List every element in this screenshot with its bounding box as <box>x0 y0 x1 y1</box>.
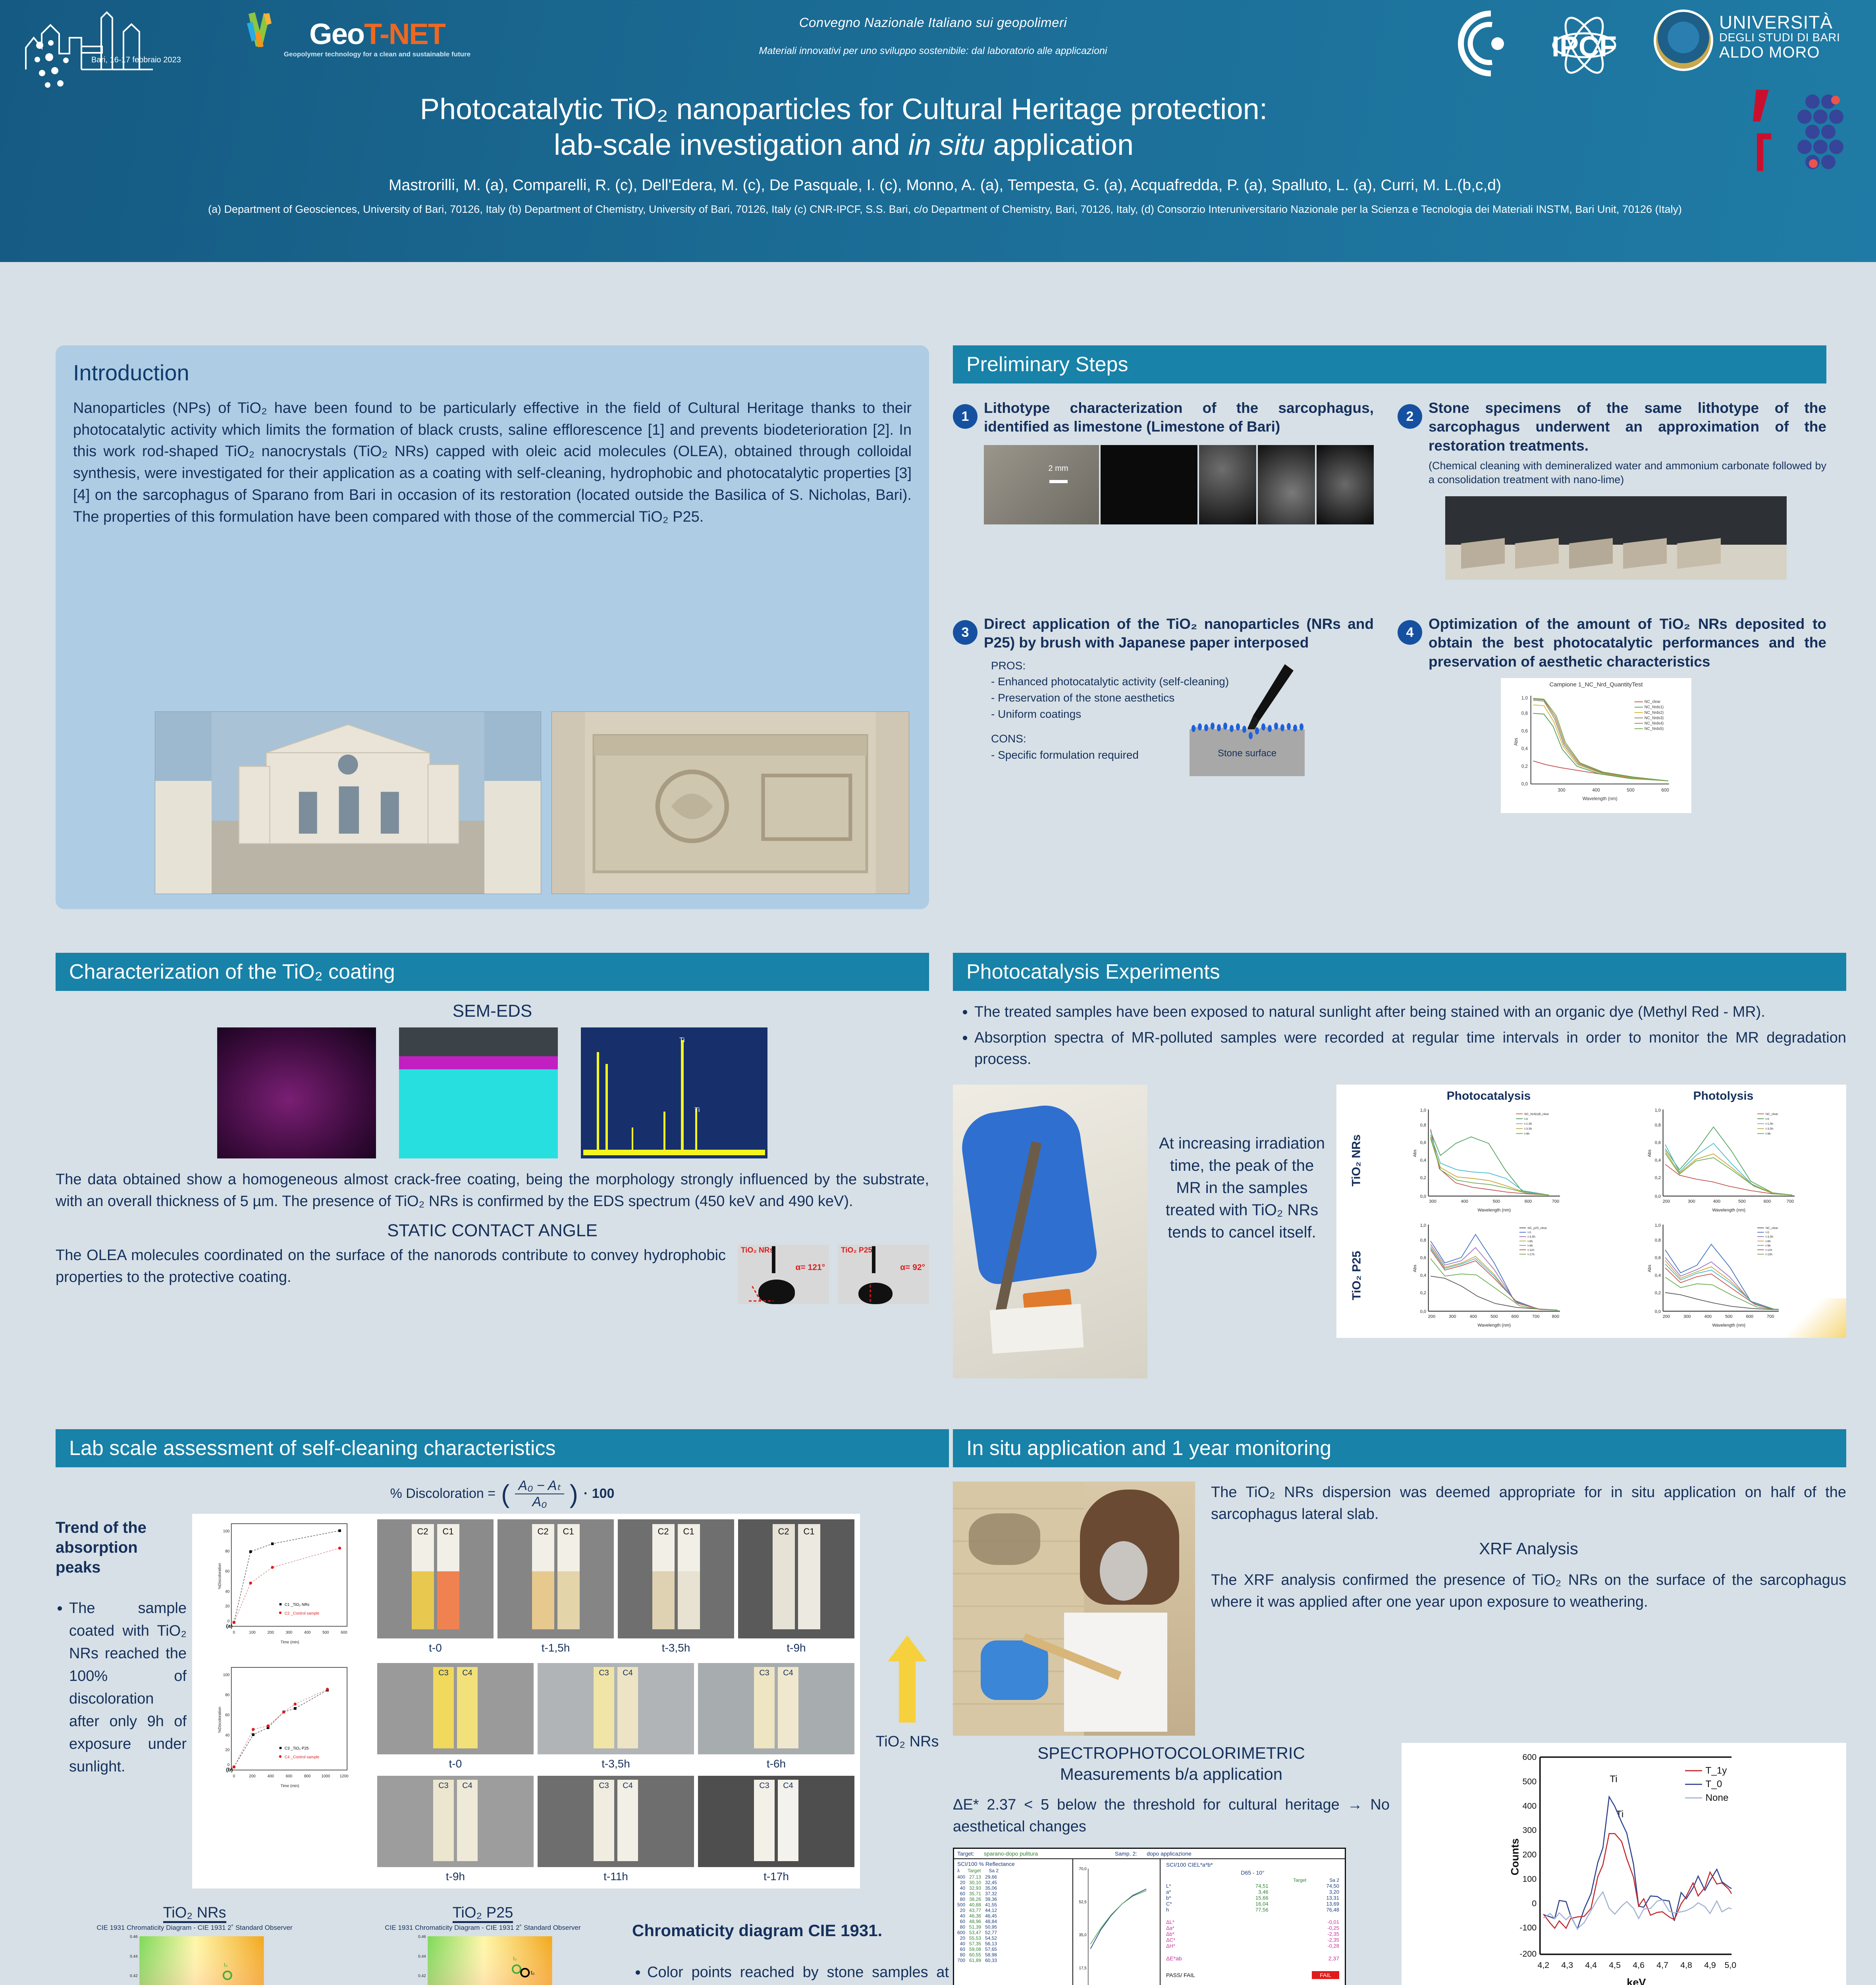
table-row: 2055,5354,52 <box>957 1935 1001 1941</box>
series-b-photo-t0: C3 C4 t-0 <box>377 1663 534 1770</box>
gloved-hand <box>981 1640 1048 1700</box>
delta-e-value: 2,37 <box>1328 1955 1339 1962</box>
table-cell: a* <box>1166 1889 1197 1895</box>
svg-text:500: 500 <box>1493 1199 1500 1204</box>
table-row: 4057,3556,13 <box>957 1941 1001 1946</box>
svg-text:C1 _TiO₂ NRs: C1 _TiO₂ NRs <box>285 1603 309 1607</box>
table-row: 6048,9648,84 <box>957 1919 1001 1924</box>
chromaticity-nrs-plot: 0.460.44 0.420.40 0.380.36 0.340.32 0.32… <box>56 1932 334 1985</box>
characterization-body: The data obtained show a homogeneous alm… <box>56 1169 929 1212</box>
micrograph-dark <box>1101 445 1197 524</box>
formula-paren-open: ( <box>501 1479 509 1509</box>
up-arrow-icon <box>885 1633 929 1724</box>
chart-photocat-nrs: 0,00,2 0,40,6 0,81,0 300400 500600 700 A… <box>1371 1103 1606 1218</box>
discoloration-formula: % Discoloration = ( A₀ − Aₜ A₀ ) · 100 <box>56 1478 949 1510</box>
table-cell: 60 <box>957 1946 969 1952</box>
col-header-photolysis: Photolysis <box>1606 1089 1841 1103</box>
table-cell: 40 <box>957 1941 969 1946</box>
table-cell: 40 <box>957 1885 969 1891</box>
svg-text:t-9h: t-9h <box>1524 1132 1529 1135</box>
svg-text:300: 300 <box>1558 788 1565 793</box>
table-row: b*15,6613,31 <box>1166 1895 1339 1901</box>
svg-text:Wavelength (nm): Wavelength (nm) <box>1712 1323 1746 1328</box>
chromaticity-p25-title-text: TiO₂ P25 <box>453 1904 513 1923</box>
chromaticity-p25: TiO₂ P25 CIE 1931 Chromaticity Diagram -… <box>344 1904 622 1985</box>
eds-label-ti-2: Ti <box>694 1106 700 1114</box>
svg-text:NC_Nrds5): NC_Nrds5) <box>1645 727 1664 731</box>
quantity-chart-svg: 0,0 0,2 0,4 0,6 0,8 1,0 300 400 500 600 … <box>1504 688 1688 803</box>
insitu-heading: In situ application and 1 year monitorin… <box>953 1429 1846 1467</box>
scale-bar <box>1049 480 1068 483</box>
lab-col-sa2: Sa 2 <box>1329 1877 1339 1883</box>
row-header-nrs: TiO₂ NRs <box>1350 1135 1363 1187</box>
svg-text:NC_clear: NC_clear <box>1645 700 1661 704</box>
table-cell: 57,65 <box>985 1946 1001 1952</box>
table-row: ΔL*-0,01 <box>1166 1919 1339 1925</box>
contact-angle-p25-value: α= 92° <box>900 1263 925 1272</box>
row-header-p25: TiO₂ P25 <box>1350 1251 1363 1301</box>
stone-surface-label: Stone surface <box>1218 748 1276 759</box>
svg-text:Abs: Abs <box>1413 1149 1417 1157</box>
title-line-2-a: lab-scale investigation and <box>554 128 908 161</box>
table-cell: 20 <box>957 1908 969 1913</box>
svg-text:NC_p25_clear: NC_p25_clear <box>1528 1226 1547 1230</box>
introduction-heading: Introduction <box>73 360 912 385</box>
series-a-photo-t15: C2 C1 t-1,5h <box>497 1519 614 1654</box>
report-body: SCI/100 % Reflectance λ Target Sa 2 4002… <box>954 1859 1345 1985</box>
basilica-illustration <box>155 712 541 894</box>
table-row: 2030,1032,45 <box>957 1880 1001 1885</box>
chart-a-discoloration: 10080 6040 200 0100 200300 400500 600 %D… <box>198 1519 372 1650</box>
series-a-photo-t9: C2 C1 t-9h <box>738 1519 854 1654</box>
svg-text:0: 0 <box>1532 1898 1537 1908</box>
step-2-text: Stone specimens of the same lithotype of… <box>1429 399 1826 455</box>
table-cell: 400 <box>957 1874 969 1880</box>
report-illuminant: D65 - 10° <box>1166 1869 1339 1876</box>
table-row: Δa*-0,25 <box>1166 1925 1339 1931</box>
chart-photocat-p25: 0,00,2 0,40,6 0,81,0 200300 400500 60070… <box>1371 1218 1606 1333</box>
chromaticity-caption-title: Chromaticity diagram CIE 1931. <box>632 1920 949 1941</box>
eds-baseline <box>583 1150 765 1155</box>
col-header-photocatalysis: Photocatalysis <box>1371 1089 1606 1103</box>
chromaticity-nrs-title: TiO₂ NRs <box>56 1904 334 1921</box>
molecule-dots-icon <box>32 40 99 91</box>
step-2-number: 2 <box>1398 404 1422 429</box>
table-cell: 43,77 <box>969 1908 985 1913</box>
svg-text:0,2: 0,2 <box>1655 1176 1661 1180</box>
specimen <box>1569 538 1613 569</box>
table-cell: 35,06 <box>985 1885 1001 1891</box>
mr-staining-photo <box>953 1085 1147 1378</box>
table-cell: 74,51 <box>1197 1883 1268 1889</box>
svg-text:800: 800 <box>304 1774 311 1779</box>
table-cell: b* <box>1166 1895 1197 1901</box>
photocatalysis-bullets: The treated samples have been exposed to… <box>974 1001 1846 1070</box>
table-row: 8060,5558,98 <box>957 1952 1001 1958</box>
svg-text:0.44: 0.44 <box>418 1954 426 1959</box>
svg-text:0,8: 0,8 <box>1420 1123 1426 1128</box>
svg-text:0,4: 0,4 <box>1655 1273 1661 1278</box>
svg-text:4,6: 4,6 <box>1633 1960 1645 1970</box>
svg-text:t-3,5h: t-3,5h <box>1766 1235 1773 1239</box>
photocatalysis-content-row: At increasing irradiation time, the peak… <box>953 1085 1846 1378</box>
chart-b-discoloration: 10080 6040 200 0200 400600 8001000 1200 … <box>198 1663 372 1794</box>
table-row: 8038,2639,36 <box>957 1896 1001 1902</box>
table-cell: 55,53 <box>969 1935 985 1941</box>
svg-text:600: 600 <box>1512 1314 1519 1319</box>
svg-text:NC_clear: NC_clear <box>1766 1226 1778 1230</box>
eds-label-ti-1: Ti <box>679 1036 685 1044</box>
svg-text:700: 700 <box>1552 1199 1559 1204</box>
report-target-value: sparano-dopo pulitura <box>984 1850 1038 1857</box>
respirator-mask-icon <box>1100 1541 1147 1601</box>
step-2: 2 Stone specimens of the same lithotype … <box>1398 399 1826 580</box>
chromaticity-nrs-title-text: TiO₂ NRs <box>163 1904 226 1923</box>
svg-text:0,4: 0,4 <box>1655 1158 1661 1163</box>
characterization-heading: Characterization of the TiO₂ coating <box>56 953 929 991</box>
brush-icon <box>1247 664 1294 734</box>
svg-text:0,8: 0,8 <box>1420 1238 1426 1243</box>
contact-angle-heading: STATIC CONTACT ANGLE <box>56 1221 929 1241</box>
insitu-intro: The TiO₂ NRs dispersion was deemed appro… <box>1211 1482 1846 1525</box>
table-cell: 40,88 <box>969 1902 985 1908</box>
table-cell: 48,84 <box>985 1919 1001 1924</box>
svg-text:600: 600 <box>341 1630 347 1635</box>
step-1: 1 Lithotype characterization of the sarc… <box>953 399 1374 524</box>
svg-text:0,0: 0,0 <box>1420 1194 1426 1199</box>
svg-text:t-0: t-0 <box>1528 1231 1531 1234</box>
table-cell: 58,98 <box>985 1952 1001 1958</box>
svg-text:0.42: 0.42 <box>130 1974 138 1978</box>
svg-text:0,4: 0,4 <box>1420 1273 1426 1278</box>
svg-text:700: 700 <box>1767 1314 1774 1319</box>
svg-text:0,2: 0,2 <box>1420 1291 1426 1295</box>
angle-guide-dashed <box>862 1283 880 1303</box>
svg-text:80: 80 <box>225 1549 230 1554</box>
svg-text:600: 600 <box>286 1774 293 1779</box>
svg-text:%Discoloration: %Discoloration <box>218 1563 222 1589</box>
svg-text:100: 100 <box>223 1673 230 1677</box>
svg-text:NC_Nrds2): NC_Nrds2) <box>1645 711 1664 715</box>
svg-text:200: 200 <box>1428 1314 1435 1319</box>
table-cell: 48,96 <box>969 1919 985 1924</box>
svg-text:C3 _TiO₂ P25: C3 _TiO₂ P25 <box>285 1746 309 1751</box>
conference-subtitle: Materiali innovativi per uno sviluppo so… <box>588 45 1278 57</box>
specimen <box>1461 538 1505 569</box>
reflectance-curve-chart: 70,052,5 35,017,5 0 400500 600700 <box>1073 1859 1160 1985</box>
spectro-heading-line-2: Measurements b/a application <box>953 1764 1390 1785</box>
svg-text:400: 400 <box>1713 1199 1720 1204</box>
table-cell: 51,39 <box>969 1924 985 1930</box>
svg-text:0,6: 0,6 <box>1521 728 1528 734</box>
svg-text:0,0: 0,0 <box>1655 1309 1661 1314</box>
series-a-time-3: t-9h <box>738 1642 854 1654</box>
status-badge: FAIL <box>1312 1971 1339 1979</box>
svg-text:500: 500 <box>1627 788 1634 793</box>
svg-text:4,7: 4,7 <box>1656 1960 1668 1970</box>
svg-text:Abs: Abs <box>1647 1264 1652 1272</box>
chromaticity-p25-title: TiO₂ P25 <box>344 1904 622 1921</box>
table-row: Δb*-2,35 <box>1166 1931 1339 1937</box>
needle-icon <box>872 1246 875 1273</box>
svg-text:Abs: Abs <box>1413 1264 1417 1272</box>
svg-text:0,6: 0,6 <box>1655 1141 1661 1145</box>
svg-text:200: 200 <box>1522 1850 1537 1860</box>
table-cell: 60 <box>957 1919 969 1924</box>
scale-bar-label: 2 mm <box>1049 464 1068 473</box>
geotnet-swoosh-icon <box>246 12 278 48</box>
series-b-photo-t6: C3 C4 t-6h <box>698 1663 854 1770</box>
table-cell: -0,25 <box>1242 1925 1339 1931</box>
svg-text:NC_Nrds1): NC_Nrds1) <box>1645 705 1664 709</box>
svg-text:500: 500 <box>1725 1314 1732 1319</box>
svg-text:1,0: 1,0 <box>1655 1223 1661 1228</box>
svg-text:300: 300 <box>1522 1825 1537 1835</box>
svg-text:35,0: 35,0 <box>1079 1933 1087 1938</box>
svg-text:52,5: 52,5 <box>1079 1900 1087 1904</box>
geotnet-wordmark: GeoT-NET <box>309 19 445 49</box>
svg-text:17,5: 17,5 <box>1079 1966 1087 1971</box>
characterization-panel: Characterization of the TiO₂ coating SEM… <box>56 953 929 1304</box>
quantity-chart-title: Campione 1_NC_Nrd_QuantityTest <box>1504 681 1688 688</box>
xrf-body: The XRF analysis confirmed the presence … <box>1211 1569 1846 1613</box>
svg-text:C2 _Control sample: C2 _Control sample <box>285 1611 320 1616</box>
svg-text:T_1y: T_1y <box>1706 1765 1728 1776</box>
event-date-label: Bari, 16-17 febbraio 2023 <box>91 56 181 65</box>
svg-text:400: 400 <box>1470 1314 1477 1319</box>
svg-text:800: 800 <box>1552 1314 1559 1319</box>
svg-text:t₀: t₀ <box>531 1970 534 1975</box>
labscale-bullet-1: The sample coated with TiO₂ NRs reached … <box>69 1597 187 1778</box>
table-row: 4046,3646,45 <box>957 1913 1001 1919</box>
table-cell: 60,33 <box>985 1958 1001 1963</box>
svg-text:0,8: 0,8 <box>1655 1238 1661 1243</box>
table-cell: 20 <box>957 1880 969 1885</box>
svg-text:t₀: t₀ <box>224 1962 228 1968</box>
step-3-number: 3 <box>953 620 978 645</box>
svg-text:-100: -100 <box>1519 1923 1537 1933</box>
svg-text:400: 400 <box>1461 1199 1468 1204</box>
svg-text:t-6h: t-6h <box>1766 1239 1771 1243</box>
contact-angle-body: The OLEA molecules coordinated on the su… <box>56 1245 726 1288</box>
wall-stain <box>969 1513 1040 1565</box>
report-lab-col: SCI/100 CIEL*a*b* D65 - 10° Target Sa 2 … <box>1161 1859 1345 1985</box>
table-row: 2043,7744,12 <box>957 1908 1001 1913</box>
report-right-header: SCI/100 CIEL*a*b* <box>1166 1862 1339 1868</box>
svg-text:400: 400 <box>1522 1801 1537 1811</box>
step-3-text: Direct application of the TiO₂ nanoparti… <box>984 615 1374 652</box>
table-row: h77,5676,48 <box>1166 1907 1339 1913</box>
svg-text:400: 400 <box>1592 788 1600 793</box>
table-cell: 700 <box>957 1958 969 1963</box>
chromaticity-caption: Chromaticity diagram CIE 1931. Color poi… <box>632 1904 949 1985</box>
xrf-spectrum-chart: 600 500 400 300 200 100 0 -100 -200 4,24… <box>1408 1749 1840 1985</box>
table-cell: 20 <box>957 1935 969 1941</box>
photocatalysis-bullet-1: The treated samples have been exposed to… <box>974 1001 1846 1023</box>
introduction-panel: Introduction Nanoparticles (NPs) of TiO₂… <box>56 345 929 909</box>
step-4-number: 4 <box>1398 620 1422 645</box>
table-cell: 500 <box>957 1902 969 1908</box>
university-name: UNIVERSITÀ DEGLI STUDI DI BARI ALDO MORO <box>1719 13 1840 61</box>
svg-text:100: 100 <box>223 1529 230 1534</box>
table-cell: 80 <box>957 1924 969 1930</box>
svg-text:Wavelength (nm): Wavelength (nm) <box>1478 1323 1511 1328</box>
table-cell: 3,46 <box>1197 1889 1268 1895</box>
preliminary-heading: Preliminary Steps <box>953 345 1826 384</box>
chromaticity-caption-bullet: Color points reached by stone samples at… <box>647 1961 949 1985</box>
svg-text:0,8: 0,8 <box>1521 711 1528 716</box>
svg-text:t-9h: t-9h <box>1528 1244 1533 1247</box>
eds-layered-image <box>399 1027 558 1158</box>
chromaticity-caption-bullets: Color points reached by stone samples at… <box>647 1961 949 1985</box>
svg-text:Counts: Counts <box>1509 1838 1521 1875</box>
svg-text:300: 300 <box>1688 1199 1695 1204</box>
university-logo: UNIVERSITÀ DEGLI STUDI DI BARI ALDO MORO <box>1654 10 1852 81</box>
table-cell: 46,45 <box>985 1913 1001 1919</box>
chromaticity-nrs: TiO₂ NRs CIE 1931 Chromaticity Diagram -… <box>56 1904 334 1985</box>
svg-text:4,4: 4,4 <box>1585 1960 1597 1970</box>
svg-text:600: 600 <box>1746 1314 1753 1319</box>
svg-text:t-6h: t-6h <box>1528 1239 1533 1243</box>
sarcophagus-photo <box>551 711 909 894</box>
svg-text:200: 200 <box>249 1774 256 1779</box>
insitu-panel: In situ application and 1 year monitorin… <box>953 1429 1846 1985</box>
ipcf-label: IPCF <box>1552 31 1617 63</box>
svg-text:Ti: Ti <box>1610 1774 1617 1785</box>
svg-text:20: 20 <box>225 1748 230 1752</box>
insitu-bottom-row: SPECTROPHOTOCOLORIMETRIC Measurements b/… <box>953 1743 1846 1985</box>
table-cell: 52,77 <box>985 1930 1001 1935</box>
delta-table: ΔL*-0,01Δa*-0,25Δb*-2,35ΔC*-2,35ΔH*-0,28 <box>1166 1919 1339 1949</box>
contact-angle-nrs-image: TiO₂ NRs α= 121° <box>738 1245 829 1304</box>
photocatalysis-heading: Photocatalysis Experiments <box>953 953 1846 991</box>
table-row: 6059,0857,65 <box>957 1946 1001 1952</box>
report-reflectance-col: SCI/100 % Reflectance λ Target Sa 2 4002… <box>954 1859 1073 1985</box>
svg-text:20: 20 <box>225 1604 230 1609</box>
svg-text:300: 300 <box>286 1630 293 1635</box>
contact-angle-nrs-value: α= 121° <box>796 1263 825 1272</box>
svg-text:(b): (b) <box>226 1767 233 1773</box>
eds-peak-1 <box>597 1052 599 1155</box>
col-sa2: Sa 2 <box>989 1868 999 1873</box>
svg-text:4,5: 4,5 <box>1609 1960 1621 1970</box>
chromaticity-p25-plot: 0.460.44 0.420.40 0.380.36 0.340.32 0.32… <box>344 1932 622 1985</box>
report-sample-label: Samp. 2: <box>1115 1850 1137 1857</box>
conference-info: Convegno Nazionale Italiano sui geopolim… <box>588 15 1278 57</box>
svg-text:%Discoloration: %Discoloration <box>218 1707 222 1733</box>
table-cell: 60,55 <box>969 1952 985 1958</box>
svg-text:400: 400 <box>304 1630 311 1635</box>
svg-text:1000: 1000 <box>321 1774 330 1779</box>
svg-text:600: 600 <box>1764 1199 1771 1204</box>
svg-text:80: 80 <box>225 1693 230 1698</box>
svg-text:4,3: 4,3 <box>1561 1960 1573 1970</box>
sem-images-row: Ti Ti <box>56 1027 929 1158</box>
photocatalysis-bullet-2: Absorption spectra of MR-polluted sample… <box>974 1027 1846 1070</box>
lab-table: L*74,5174,50a*3,463,20b*15,6613,31C*16,0… <box>1166 1883 1339 1913</box>
svg-text:t-1,5h: t-1,5h <box>1524 1122 1532 1125</box>
svg-text:600: 600 <box>1525 1199 1532 1204</box>
table-cell: ΔH* <box>1166 1943 1242 1949</box>
title-line-2-b: application <box>985 128 1134 161</box>
support-block <box>989 1304 1084 1354</box>
table-cell: 60 <box>957 1891 969 1896</box>
brush-diagram-svg: Stone surface <box>1178 662 1344 777</box>
svg-text:0,0: 0,0 <box>1521 782 1528 787</box>
table-cell: 40 <box>957 1913 969 1919</box>
series-b-photo-t11: C3 C4 t-11h <box>538 1776 694 1883</box>
nrs-arrow-col: TiO₂ NRs <box>866 1514 949 1889</box>
table-cell: 46,36 <box>969 1913 985 1919</box>
series-a-photos: C2 C1 t-0 C2 C1 t-1,5h <box>377 1519 854 1654</box>
insitu-application-photo <box>953 1482 1195 1736</box>
delta-e-label: ΔE*ab <box>1166 1955 1182 1962</box>
svg-text:0,6: 0,6 <box>1420 1141 1426 1145</box>
eds-peak-2 <box>605 1064 608 1155</box>
table-cell: 13,69 <box>1269 1901 1339 1907</box>
institution-logos: IPCF UNIVERSITÀ DEGLI STUDI DI BARI ALDO… <box>1296 6 1860 86</box>
geotnet-tagline: Geopolymer technology for a clean and su… <box>284 50 470 58</box>
table-cell: 61,89 <box>969 1958 985 1963</box>
brush-application-diagram: Stone surface <box>1178 662 1344 777</box>
svg-text:400: 400 <box>267 1774 274 1779</box>
table-cell: 80 <box>957 1952 969 1958</box>
spectro-result: ΔE* 2.37 < 5 below the threshold for cul… <box>953 1794 1390 1837</box>
table-cell: 57,35 <box>969 1941 985 1946</box>
report-left-header: SCI/100 % Reflectance <box>957 1861 1069 1867</box>
table-cell: ΔC* <box>1166 1937 1242 1943</box>
instm-logo <box>1753 86 1856 177</box>
svg-text:4,9: 4,9 <box>1704 1960 1716 1970</box>
svg-text:t-11h: t-11h <box>1766 1248 1772 1252</box>
labscale-content-row: Trend of the absorption peaks The sample… <box>56 1514 949 1889</box>
series-b-time-0: t-0 <box>377 1758 534 1770</box>
svg-text:100: 100 <box>1522 1874 1537 1884</box>
table-cell: 30,10 <box>969 1880 985 1885</box>
chart-b-wrap: 10080 6040 200 0200 400600 8001000 1200 … <box>198 1663 372 1796</box>
report-target-label: Target: <box>957 1850 974 1857</box>
svg-text:200: 200 <box>1663 1314 1670 1319</box>
eds-peak-3 <box>632 1127 633 1155</box>
step-1-text: Lithotype characterization of the sarcop… <box>984 399 1374 436</box>
svg-text:700: 700 <box>1532 1314 1539 1319</box>
table-cell: 35,71 <box>969 1891 985 1896</box>
svg-text:NC_clear: NC_clear <box>1766 1112 1778 1116</box>
series-b-time-3: t-9h <box>377 1870 534 1883</box>
delta-e-row: ΔE*ab 2,37 <box>1166 1955 1339 1962</box>
contact-angle-p25-label: TiO₂ P25 <box>841 1246 872 1255</box>
absorption-spectra-grid: Photocatalysis Photolysis TiO₂ NRs 0,00,… <box>1336 1085 1846 1338</box>
step-2-subtext: (Chemical cleaning with demineralized wa… <box>1429 459 1826 487</box>
table-cell: 56,13 <box>985 1941 1001 1946</box>
svg-text:0,8: 0,8 <box>1655 1123 1661 1128</box>
table-cell: 41,55 <box>985 1902 1001 1908</box>
svg-text:600: 600 <box>1522 1752 1537 1762</box>
svg-text:500: 500 <box>1490 1314 1498 1319</box>
svg-text:200: 200 <box>1663 1199 1670 1204</box>
table-cell: 53,47 <box>969 1930 985 1935</box>
svg-text:0,2: 0,2 <box>1521 764 1528 769</box>
series-b-time-1: t-3,5h <box>538 1758 694 1770</box>
specimen <box>1515 538 1559 569</box>
table-cell: 29,66 <box>985 1874 1001 1880</box>
svg-text:-200: -200 <box>1519 1949 1537 1958</box>
table-cell: h <box>1166 1907 1197 1913</box>
table-row: ΔC*-2,35 <box>1166 1937 1339 1943</box>
table-cell: 32,45 <box>985 1880 1001 1885</box>
svg-text:t-9h: t-9h <box>1766 1132 1771 1135</box>
svg-text:40: 40 <box>225 1590 230 1594</box>
